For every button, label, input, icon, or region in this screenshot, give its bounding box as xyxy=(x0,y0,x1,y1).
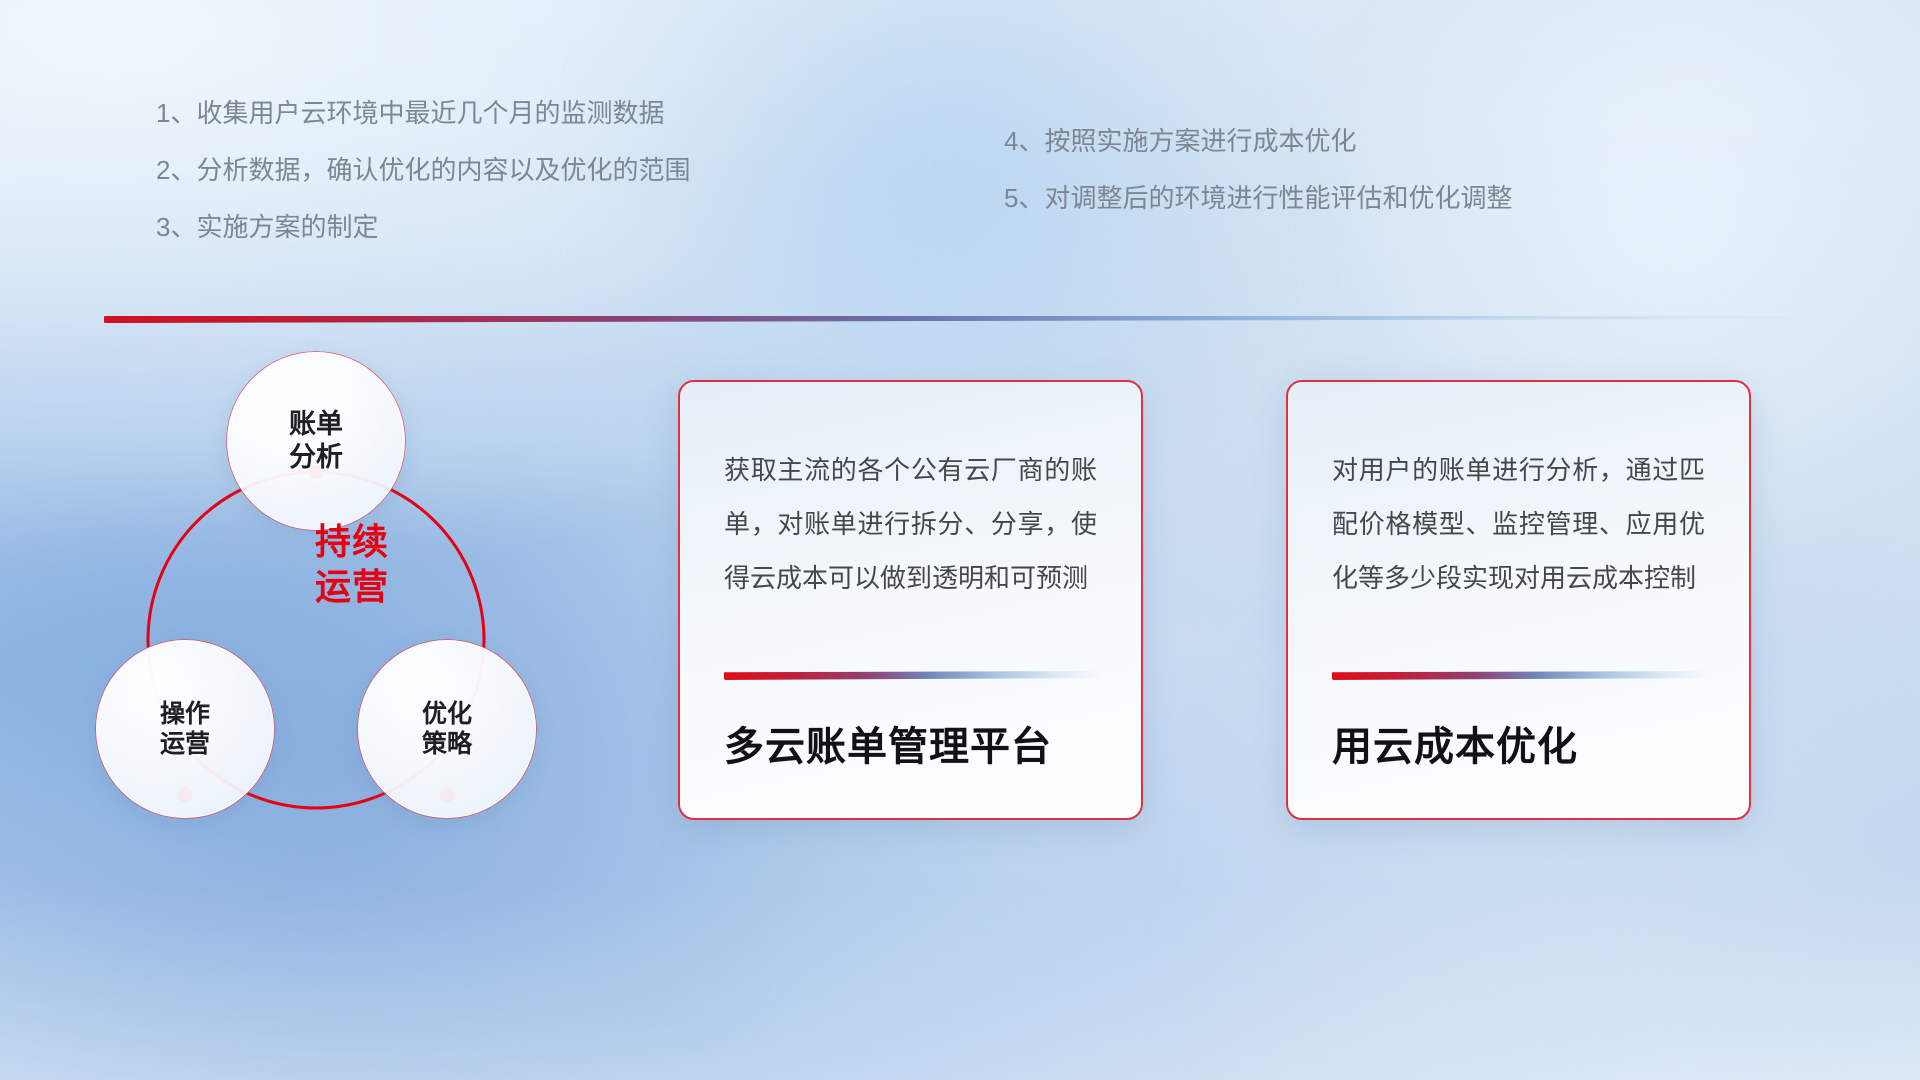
venn-center-label: 持续 运营 xyxy=(244,519,460,609)
venn-bubble-label-line1: 操作 xyxy=(160,699,210,730)
step-number: 5、 xyxy=(1004,185,1044,211)
venn-bubble-label-line1: 优化 xyxy=(422,699,472,730)
step-text: 收集用户云环境中最近几个月的监测数据 xyxy=(196,100,664,126)
venn-bubble-label-line1: 账单 xyxy=(289,408,343,441)
card-body-text: 获取主流的各个公有云厂商的账单，对账单进行拆分、分享，使得云成本可以做到透明和可… xyxy=(724,444,1097,605)
step-item-2: 2、 分析数据，确认优化的内容以及优化的范围 xyxy=(156,157,690,183)
venn-bubble-label-line2: 运营 xyxy=(160,729,210,760)
feature-card-cloud-cost-optimization[interactable]: 对用户的账单进行分析，通过匹配价格模型、监控管理、应用优化等多少段实现对用云成本… xyxy=(1286,380,1751,820)
step-list-right: 4、 按照实施方案进行成本优化 5、 对调整后的环境进行性能评估和优化调整 xyxy=(1004,128,1512,242)
feature-card-multicloud-billing[interactable]: 获取主流的各个公有云厂商的账单，对账单进行拆分、分享，使得云成本可以做到透明和可… xyxy=(678,380,1143,820)
step-item-3: 3、 实施方案的制定 xyxy=(156,214,690,240)
card-divider xyxy=(1332,671,1709,680)
step-number: 2、 xyxy=(156,157,196,183)
step-text: 按照实施方案进行成本优化 xyxy=(1044,128,1356,154)
card-divider xyxy=(724,671,1101,680)
step-list-left: 1、 收集用户云环境中最近几个月的监测数据 2、 分析数据，确认优化的内容以及优… xyxy=(156,100,690,271)
step-item-4: 4、 按照实施方案进行成本优化 xyxy=(1004,128,1512,154)
step-number: 1、 xyxy=(156,100,196,126)
card-title: 多云账单管理平台 xyxy=(724,724,1104,770)
venn-center-label-line1: 持续 xyxy=(244,519,460,564)
step-number: 3、 xyxy=(156,214,196,240)
step-number: 4、 xyxy=(1004,128,1044,154)
step-text: 实施方案的制定 xyxy=(196,214,378,240)
card-body-text: 对用户的账单进行分析，通过匹配价格模型、监控管理、应用优化等多少段实现对用云成本… xyxy=(1332,444,1705,605)
venn-bubble-label-line2: 策略 xyxy=(422,729,472,760)
venn-bubble-optimization-strategy[interactable]: 优化 策略 xyxy=(358,640,536,818)
card-title: 用云成本优化 xyxy=(1332,724,1712,770)
step-item-1: 1、 收集用户云环境中最近几个月的监测数据 xyxy=(156,100,690,126)
step-item-5: 5、 对调整后的环境进行性能评估和优化调整 xyxy=(1004,185,1512,211)
venn-bubble-operation[interactable]: 操作 运营 xyxy=(96,640,274,818)
venn-bubble-billing-analysis[interactable]: 账单 分析 xyxy=(227,352,405,530)
continuous-operation-venn-diagram: 账单 分析 操作 运营 优化 策略 持续 运营 xyxy=(96,352,616,912)
venn-center-label-line2: 运营 xyxy=(244,564,460,609)
step-text: 分析数据，确认优化的内容以及优化的范围 xyxy=(196,157,690,183)
venn-bubble-label-line2: 分析 xyxy=(289,441,343,474)
step-text: 对调整后的环境进行性能评估和优化调整 xyxy=(1044,185,1512,211)
